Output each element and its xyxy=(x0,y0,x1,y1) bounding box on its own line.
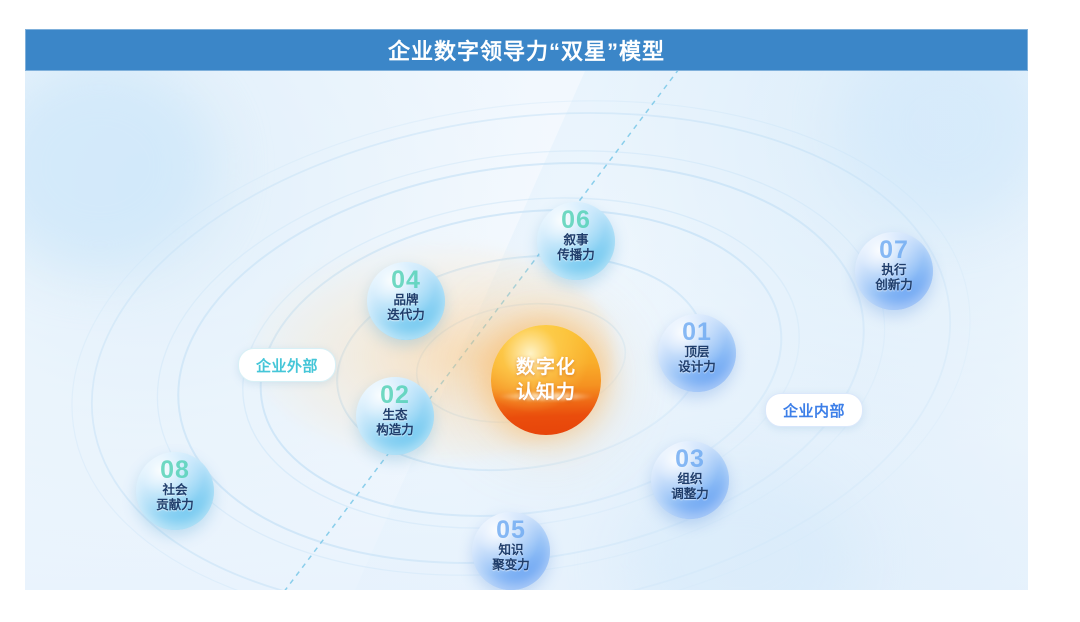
node-label-04-line2: 迭代力 xyxy=(387,308,425,323)
node-label-03-line2: 调整力 xyxy=(671,487,709,502)
node-label-02-line1: 生态 xyxy=(376,408,414,423)
region-label-internal[interactable]: 企业内部 xyxy=(765,393,863,427)
node-label-08: 社会 贡献力 xyxy=(156,483,194,513)
node-label-06-line1: 叙事 xyxy=(557,233,595,248)
node-number-03: 03 xyxy=(651,447,729,472)
infographic-root: 企业数字领导力“双星”模型 xyxy=(0,0,1080,622)
center-label-line2: 认知力 xyxy=(516,380,576,405)
node-number-08: 08 xyxy=(136,458,214,483)
node-number-06: 06 xyxy=(537,208,615,233)
node-label-07-line2: 创新力 xyxy=(875,278,913,293)
node-number-05: 05 xyxy=(472,518,550,543)
node-label-03: 组织 调整力 xyxy=(671,472,709,502)
node-label-07-line1: 执行 xyxy=(875,263,913,278)
node-label-07: 执行 创新力 xyxy=(875,263,913,293)
capability-node-03[interactable]: 03 组织 调整力 xyxy=(651,441,729,519)
node-label-01-line2: 设计力 xyxy=(678,360,716,375)
node-number-02: 02 xyxy=(356,383,434,408)
capability-node-06[interactable]: 06 叙事 传播力 xyxy=(537,202,615,280)
node-label-01-line1: 顶层 xyxy=(678,345,716,360)
page-title: 企业数字领导力“双星”模型 xyxy=(388,34,665,66)
node-label-02-line2: 构造力 xyxy=(376,423,414,438)
node-label-06-line2: 传播力 xyxy=(557,248,595,263)
node-label-06: 叙事 传播力 xyxy=(557,233,595,263)
capability-node-07[interactable]: 07 执行 创新力 xyxy=(855,232,933,310)
center-sphere[interactable]: 数字化 认知力 xyxy=(491,325,601,435)
node-number-04: 04 xyxy=(367,268,445,293)
node-label-04-line1: 品牌 xyxy=(387,293,425,308)
capability-node-04[interactable]: 04 品牌 迭代力 xyxy=(367,262,445,340)
diagram-panel: 数字化 认知力 01 顶层 设计力 02 生态 构造力 03 xyxy=(25,71,1028,590)
node-label-05-line1: 知识 xyxy=(492,543,530,558)
node-number-07: 07 xyxy=(855,238,933,263)
region-label-external[interactable]: 企业外部 xyxy=(238,348,336,382)
title-banner: 企业数字领导力“双星”模型 xyxy=(25,29,1028,71)
node-label-08-line2: 贡献力 xyxy=(156,498,194,513)
node-label-01: 顶层 设计力 xyxy=(678,345,716,375)
node-label-08-line1: 社会 xyxy=(156,483,194,498)
capability-node-02[interactable]: 02 生态 构造力 xyxy=(356,377,434,455)
node-number-01: 01 xyxy=(658,320,736,345)
orbit-stage: 数字化 认知力 01 顶层 设计力 02 生态 构造力 03 xyxy=(25,71,1028,590)
node-label-05-line2: 聚变力 xyxy=(492,558,530,573)
center-label-line1: 数字化 xyxy=(516,355,576,380)
node-label-05: 知识 聚变力 xyxy=(492,543,530,573)
capability-node-01[interactable]: 01 顶层 设计力 xyxy=(658,314,736,392)
node-label-04: 品牌 迭代力 xyxy=(387,293,425,323)
node-label-03-line1: 组织 xyxy=(671,472,709,487)
node-label-02: 生态 构造力 xyxy=(376,408,414,438)
capability-node-05[interactable]: 05 知识 聚变力 xyxy=(472,512,550,590)
capability-node-08[interactable]: 08 社会 贡献力 xyxy=(136,452,214,530)
